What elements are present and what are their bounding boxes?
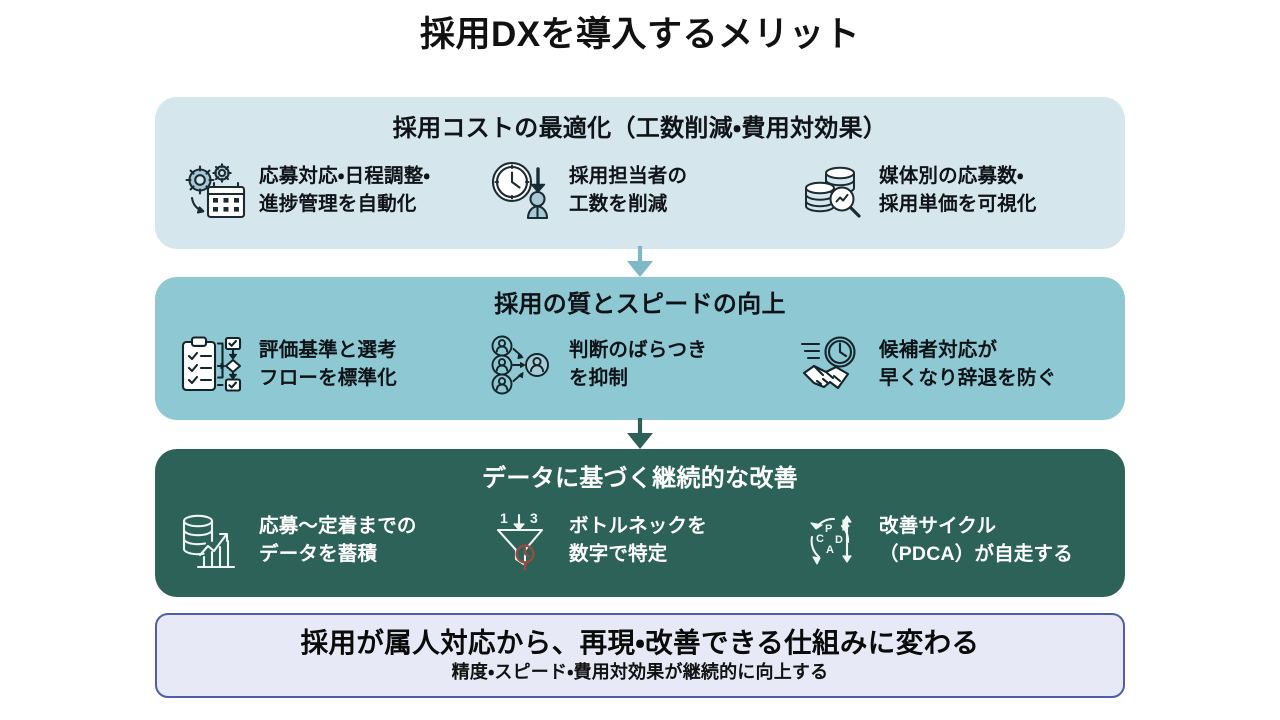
outcome-sub-text: 精度・スピード・費用対効果が継続的に向上する bbox=[452, 662, 829, 684]
people-converge-icon bbox=[487, 332, 559, 398]
pdca-label-p: P bbox=[825, 523, 832, 535]
benefit-item-automation: 応募対応・日程調整・ 進捗管理を自動化 bbox=[177, 158, 483, 224]
pdca-cycle-icon: P D C A bbox=[797, 508, 869, 574]
clock-person-down-arrow-icon bbox=[487, 158, 559, 224]
database-barchart-icon bbox=[177, 508, 249, 574]
clipboard-flowchart-icon bbox=[177, 332, 249, 398]
stage-improve-heading: データに基づく継続的な改善 bbox=[155, 449, 1125, 494]
gears-calendar-icon bbox=[177, 158, 249, 224]
benefit-item-bottleneck: 1 3 ボトルネックを 数字で特定 bbox=[487, 508, 793, 574]
benefit-item-speed-response: 候補者対応が 早くなり辞退を防ぐ bbox=[797, 332, 1103, 398]
outcome-summary-box: 採用が属人対応から、再現・改善できる仕組みに変わる 精度・スピード・費用対効果が… bbox=[155, 613, 1125, 698]
benefit-item-automation-label: 応募対応・日程調整・ 進捗管理を自動化 bbox=[259, 163, 430, 218]
benefit-item-data-accumulation: 応募〜定着までの データを蓄積 bbox=[177, 508, 483, 574]
benefit-item-pdca-label: 改善サイクル （PDCA）が自走する bbox=[879, 513, 1073, 568]
funnel-label-left: 1 bbox=[500, 510, 508, 526]
benefit-item-data-accumulation-label: 応募〜定着までの データを蓄積 bbox=[259, 513, 417, 568]
stage-cost-heading: 採用コストの最適化（工数削減・費用対効果） bbox=[155, 97, 1125, 144]
stage-continuous-improvement: データに基づく継続的な改善 応募〜定着までの データを蓄積 bbox=[155, 449, 1125, 597]
benefit-item-consistency-label: 判断のばらつき を抑制 bbox=[569, 337, 707, 392]
benefit-item-speed-response-label: 候補者対応が 早くなり辞退を防ぐ bbox=[879, 337, 1056, 392]
pdca-label-c: C bbox=[816, 533, 824, 545]
stage-quality-speed: 採用の質とスピードの向上 bbox=[155, 277, 1125, 420]
funnel-magnifier-icon: 1 3 bbox=[487, 508, 559, 574]
benefit-item-workload: 採用担当者の 工数を削減 bbox=[487, 158, 793, 224]
stage-quality-heading: 採用の質とスピードの向上 bbox=[155, 277, 1125, 320]
page-title: 採用DXを導入するメリット bbox=[0, 14, 1280, 56]
benefit-item-cost-visibility-label: 媒体別の応募数・ 採用単価を可視化 bbox=[879, 163, 1037, 218]
pdca-label-d: D bbox=[835, 534, 843, 546]
pdca-label-a: A bbox=[826, 544, 834, 556]
arrow-cost-to-quality bbox=[616, 246, 664, 280]
stage-quality-items: 評価基準と選考 フローを標準化 bbox=[155, 332, 1125, 398]
funnel-label-right: 3 bbox=[530, 510, 538, 526]
arrow-quality-to-improve bbox=[616, 418, 664, 452]
stage-cost-items: 応募対応・日程調整・ 進捗管理を自動化 採用担当者の 工数を削減 bbox=[155, 158, 1125, 224]
benefit-item-standardize: 評価基準と選考 フローを標準化 bbox=[177, 332, 483, 398]
benefit-item-bottleneck-label: ボトルネックを 数字で特定 bbox=[569, 513, 707, 568]
stage-cost-optimization: 採用コストの最適化（工数削減・費用対効果） bbox=[155, 97, 1125, 249]
benefit-item-workload-label: 採用担当者の 工数を削減 bbox=[569, 163, 687, 218]
benefit-item-pdca: P D C A 改善サイクル （PDCA）が自走する bbox=[797, 508, 1103, 574]
coins-magnifier-icon bbox=[797, 158, 869, 224]
benefit-item-cost-visibility: 媒体別の応募数・ 採用単価を可視化 bbox=[797, 158, 1103, 224]
benefit-item-consistency: 判断のばらつき を抑制 bbox=[487, 332, 793, 398]
outcome-main-text: 採用が属人対応から、再現・改善できる仕組みに変わる bbox=[301, 627, 980, 659]
clock-handshake-icon bbox=[797, 332, 869, 398]
benefit-item-standardize-label: 評価基準と選考 フローを標準化 bbox=[259, 337, 397, 392]
stage-improve-items: 応募〜定着までの データを蓄積 1 3 ボトルネックを 数字で特定 bbox=[155, 508, 1125, 574]
